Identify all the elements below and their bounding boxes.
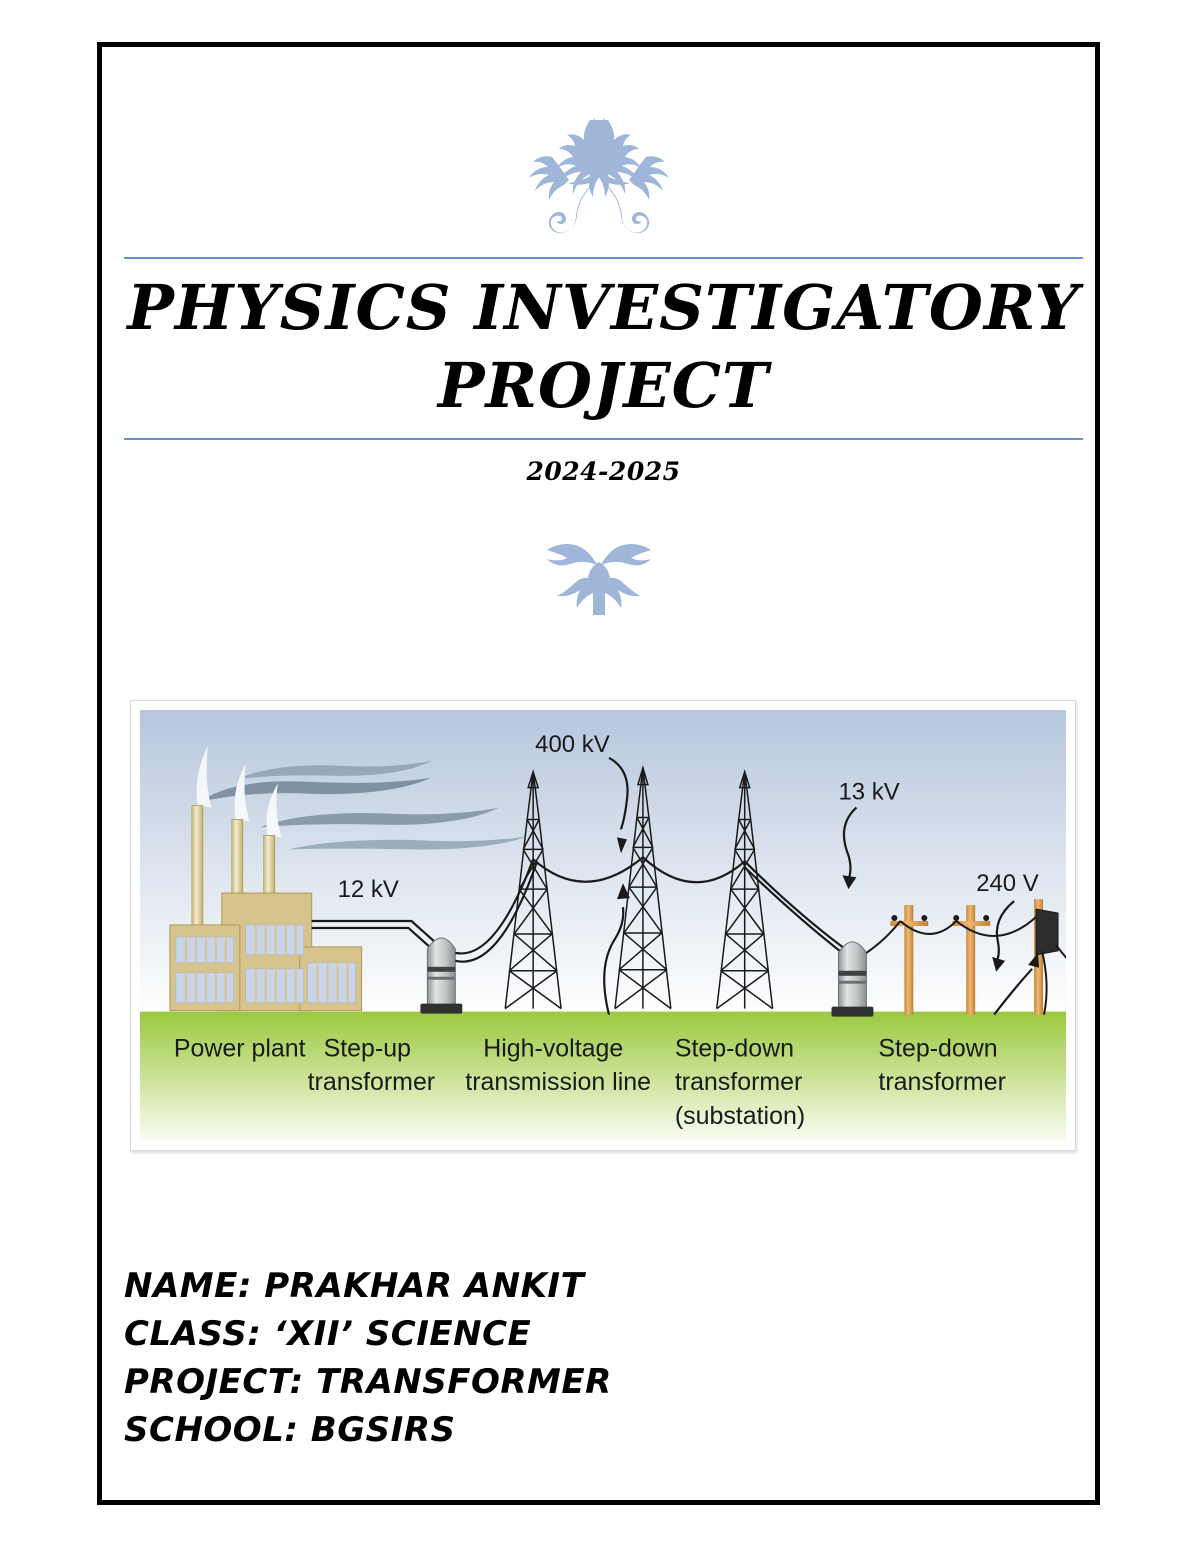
label-substation-line3: (substation) [675, 1102, 805, 1130]
bottom-ornament [102, 525, 1095, 625]
label-hv-line2: transmission line [465, 1068, 651, 1096]
floral-flourish-ornament [494, 112, 704, 237]
label-substation-line1: Step-down [675, 1034, 794, 1062]
voltage-label-13kv: 13 kV [838, 779, 899, 806]
voltage-label-400kv: 400 kV [535, 731, 610, 758]
page-title: PHYSICS INVESTIGATORY PROJECT [124, 269, 1083, 425]
title-rule-bottom [124, 438, 1083, 440]
detail-class: CLASS: ‘XII’ SCIENCE [124, 1310, 1024, 1358]
detail-name: NAME: PRAKHAR ANKIT [124, 1262, 1024, 1310]
label-substation-line2: transformer [675, 1068, 803, 1096]
academic-year: 2024-2025 [124, 457, 1083, 486]
detail-project: PROJECT: TRANSFORMER [124, 1358, 1024, 1406]
label-hv-line1: High-voltage [483, 1034, 623, 1062]
power-transmission-diagram: 12 kV 400 kV 13 kV 240 V [140, 710, 1066, 1141]
student-details: NAME: PRAKHAR ANKIT CLASS: ‘XII’ SCIENCE… [124, 1262, 1024, 1454]
detail-school: SCHOOL: BGSIRS [124, 1406, 1024, 1454]
title-rule-top [124, 257, 1083, 259]
label-step-down-pole-line2: transformer [878, 1068, 1006, 1096]
title-line-2: PROJECT [124, 347, 1083, 425]
power-transmission-figure: 12 kV 400 kV 13 kV 240 V [130, 700, 1076, 1151]
label-step-up-line2: transformer [308, 1068, 436, 1096]
leaf-flourish-ornament [539, 532, 659, 618]
top-ornament [102, 107, 1095, 242]
title-line-1: PHYSICS INVESTIGATORY [124, 269, 1083, 347]
page-border: PHYSICS INVESTIGATORY PROJECT 2024-2025 [97, 42, 1100, 1505]
label-power-plant-line1: Power plant [174, 1034, 306, 1062]
voltage-label-12kv: 12 kV [338, 876, 399, 903]
diagram-canvas: 12 kV 400 kV 13 kV 240 V [140, 710, 1066, 1141]
label-step-up-line1: Step-up [324, 1034, 411, 1062]
voltage-label-240v: 240 V [976, 870, 1039, 897]
label-step-down-pole-line1: Step-down [878, 1034, 997, 1062]
